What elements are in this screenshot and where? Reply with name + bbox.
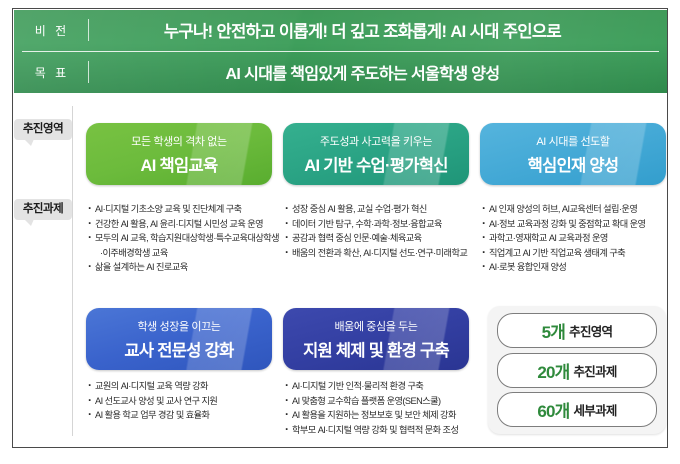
bullet-items: AI·디지털 기반 인적·물리적 환경 구축AI 맞춤형 교수학습 플랫폼 운영… (285, 379, 485, 437)
bullet-list-core-talent-cultivation: AI 인재 양성의 허브, AI교육센터 설립·운영AI·정보 교육과정 강화 … (482, 202, 680, 275)
card-title: AI 기반 수업·평가혁신 (304, 152, 448, 176)
card-title: AI 책임교육 (141, 152, 218, 176)
bullet-items: 성장 중심 AI 활용, 교실 수업·평가 혁신데이터 기반 탐구, 수학·과학… (285, 202, 485, 260)
bullet-item: 삶을 설계하는 AI 진로교육 (88, 260, 288, 275)
card-support-system-environment[interactable]: 배움에 중심을 두는 지원 체제 및 환경 구축 (283, 308, 469, 370)
bullet-list-teacher-expertise-strengthening: 교원의 AI·디지털 교육 역량 강화AI 선도교사 양성 및 교사 연구 지원… (88, 379, 288, 423)
bullet-list-ai-responsible-education: AI·디지털 기초소양 교육 및 진단체계 구축건강한 AI 활용, AI 윤리… (88, 202, 288, 275)
bullet-item: 직업계고 AI 기반 직업교육 생태계 구축 (482, 246, 680, 261)
card-subtitle: AI 시대를 선도할 (536, 133, 609, 149)
bullet-item: AI·로봇 융합인재 양성 (482, 260, 680, 275)
summary-label: 세부과제 (573, 400, 616, 419)
infographic-page: 비 전 누구나! 안전하고 이롭게! 더 깊고 조화롭게! AI 시대 주인으로… (0, 0, 680, 464)
bullet-list-ai-based-class-assessment-innovation: 성장 중심 AI 활용, 교실 수업·평가 혁신데이터 기반 탐구, 수학·과학… (285, 202, 485, 260)
card-subtitle: 배움에 중심을 두는 (334, 318, 417, 334)
side-label-task: 추진과제 (14, 199, 72, 220)
card-subtitle: 주도성과 사고력을 키우는 (320, 133, 432, 149)
bullet-item: 교원의 AI·디지털 교육 역량 강화 (88, 379, 288, 394)
goal-text: AI 시대를 책임있게 주도하는 서울학생 양성 (89, 60, 667, 84)
bullet-item: 데이터 기반 탐구, 수학·과학·정보·융합교육 (285, 217, 485, 232)
bullet-item: AI·정보 교육과정 강화 및 중점학교 확대 운영 (482, 217, 680, 232)
card-title: 핵심인재 양성 (528, 152, 619, 176)
summary-label: 추진영역 (569, 321, 612, 340)
card-ai-responsible-education[interactable]: 모든 학생의 격차 없는 AI 책임교육 (86, 123, 272, 185)
vertical-divider (72, 106, 73, 436)
card-core-talent-cultivation[interactable]: AI 시대를 선도할 핵심인재 양성 (480, 123, 666, 185)
bullet-item: AI·디지털 기반 인적·물리적 환경 구축 (285, 379, 485, 394)
summary-item-tasks: 20개 추진과제 (497, 353, 657, 388)
goal-row: 목 표 AI 시대를 책임있게 주도하는 서울학생 양성 (14, 52, 667, 93)
bullet-item: AI 맞춤형 교수학습 플랫폼 운영(SEN스쿨) (285, 394, 485, 409)
bullet-item: 배움의 전환과 확산, AI·디지털 선도·연구·미래학교 (285, 246, 485, 261)
header-band: 비 전 누구나! 안전하고 이롭게! 더 깊고 조화롭게! AI 시대 주인으로… (14, 10, 667, 93)
summary-number: 5개 (542, 318, 566, 343)
bullet-item: AI 활용을 지원하는 정보보호 및 보안 체제 강화 (285, 408, 485, 423)
bullet-item: AI·디지털 기초소양 교육 및 진단체계 구축 (88, 202, 288, 217)
summary-label: 추진과제 (573, 361, 616, 380)
bullet-item: 성장 중심 AI 활용, 교실 수업·평가 혁신 (285, 202, 485, 217)
bullet-item: 공감과 협력 중심 인문·예술·체육교육 (285, 231, 485, 246)
card-subtitle: 모든 학생의 격차 없는 (131, 133, 226, 149)
summary-number: 20개 (537, 358, 569, 383)
bullet-items: AI 인재 양성의 허브, AI교육센터 설립·운영AI·정보 교육과정 강화 … (482, 202, 680, 275)
card-subtitle: 학생 성장을 이끄는 (137, 318, 220, 334)
card-teacher-expertise-strengthening[interactable]: 학생 성장을 이끄는 교사 전문성 강화 (86, 308, 272, 370)
summary-item-subtasks: 60개 세부과제 (497, 392, 657, 427)
bullet-item: 건강한 AI 활용, AI 윤리·디지털 시민성 교육 운영 (88, 217, 288, 232)
bullet-item: AI 활용 학교 업무 경감 및 효율화 (88, 408, 288, 423)
card-title: 지원 체제 및 환경 구축 (303, 337, 449, 361)
bullet-item: 모두의 AI 교육, 학습지원대상학생·특수교육대상학생 (88, 231, 288, 246)
bullet-item: AI 선도교사 양성 및 교사 연구 지원 (88, 394, 288, 409)
goal-label: 목 표 (14, 64, 88, 81)
summary-number: 60개 (537, 397, 569, 422)
card-ai-based-class-assessment-innovation[interactable]: 주도성과 사고력을 키우는 AI 기반 수업·평가혁신 (283, 123, 469, 185)
summary-item-areas: 5개 추진영역 (497, 313, 657, 348)
vision-text: 누구나! 안전하고 이롭게! 더 깊고 조화롭게! AI 시대 주인으로 (89, 18, 667, 42)
bullet-item: AI 인재 양성의 허브, AI교육센터 설립·운영 (482, 202, 680, 217)
bullet-items: AI·디지털 기초소양 교육 및 진단체계 구축건강한 AI 활용, AI 윤리… (88, 202, 288, 275)
side-label-area: 추진영역 (14, 119, 72, 140)
vision-label: 비 전 (14, 22, 88, 39)
summary-panel: 5개 추진영역 20개 추진과제 60개 세부과제 (488, 306, 666, 434)
card-title: 교사 전문성 강화 (124, 337, 233, 361)
bullet-item: 학부모 AI·디지털 역량 강화 및 협력적 문화 조성 (285, 423, 485, 438)
bullet-item: 과학고·영재학교 AI 교육과정 운영 (482, 231, 680, 246)
bullet-items: 교원의 AI·디지털 교육 역량 강화AI 선도교사 양성 및 교사 연구 지원… (88, 379, 288, 423)
vision-row: 비 전 누구나! 안전하고 이롭게! 더 깊고 조화롭게! AI 시대 주인으로 (14, 10, 667, 51)
bullet-item: ·이주배경학생 교육 (88, 246, 288, 261)
bullet-list-support-system-environment: AI·디지털 기반 인적·물리적 환경 구축AI 맞춤형 교수학습 플랫폼 운영… (285, 379, 485, 437)
